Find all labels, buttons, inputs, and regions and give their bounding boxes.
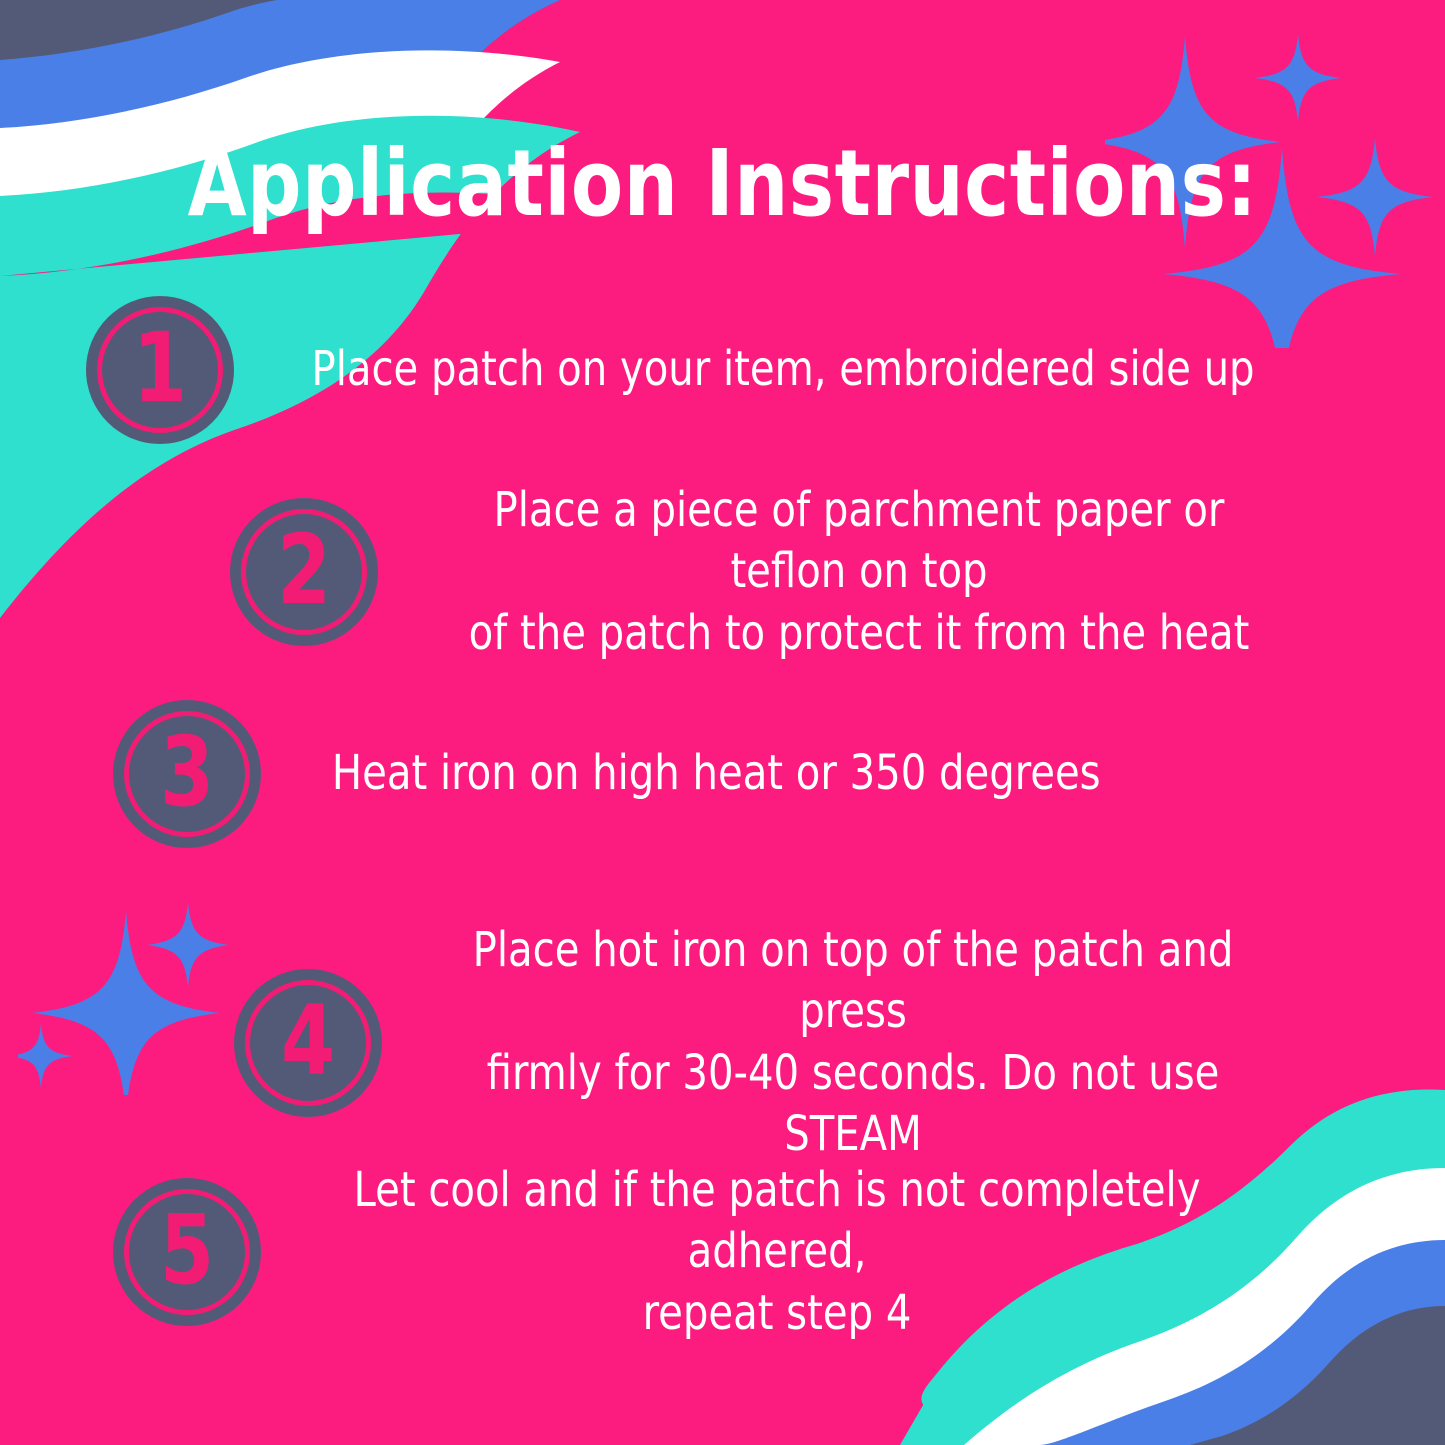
sparkle-cluster-bottom-left [18,895,258,1095]
list-item: 4 Place hot iron on top of the patch and… [234,920,1288,1166]
list-item: 3 Heat iron on high heat or 350 degrees [113,700,1130,848]
step-number: 3 [160,724,214,820]
instructions-poster: Application Instructions: 1 Place patch … [0,0,1445,1445]
list-item: 1 Place patch on your item, embroidered … [86,296,1290,444]
list-item: 5 Let cool and if the patch is not compl… [113,1160,1257,1344]
step-badge: 4 [234,969,382,1117]
sparkle-star-icon [32,911,220,1095]
step-number: 1 [133,320,187,416]
step-number: 5 [160,1202,214,1298]
step-text: Heat iron on high heat or 350 degrees [332,743,1101,804]
step-text: Place hot iron on top of the patch and p… [448,920,1257,1166]
step-badge: 1 [86,296,234,444]
list-item: 2 Place a piece of parchment paper or te… [230,480,1304,664]
step-text: Let cool and if the patch is not complet… [331,1160,1224,1344]
sparkle-star-icon [18,1023,73,1089]
step-number: 4 [281,993,335,1089]
step-number: 2 [277,522,331,618]
step-badge: 2 [230,498,378,646]
sparkle-star-icon [147,903,229,987]
step-badge: 3 [113,700,261,848]
page-title: Application Instructions: [58,138,1387,230]
step-text: Place a piece of parchment paper or tefl… [445,480,1273,664]
sparkle-star-icon [1255,34,1341,122]
step-text: Place patch on your item, embroidered si… [311,339,1254,400]
step-badge: 5 [113,1178,261,1326]
